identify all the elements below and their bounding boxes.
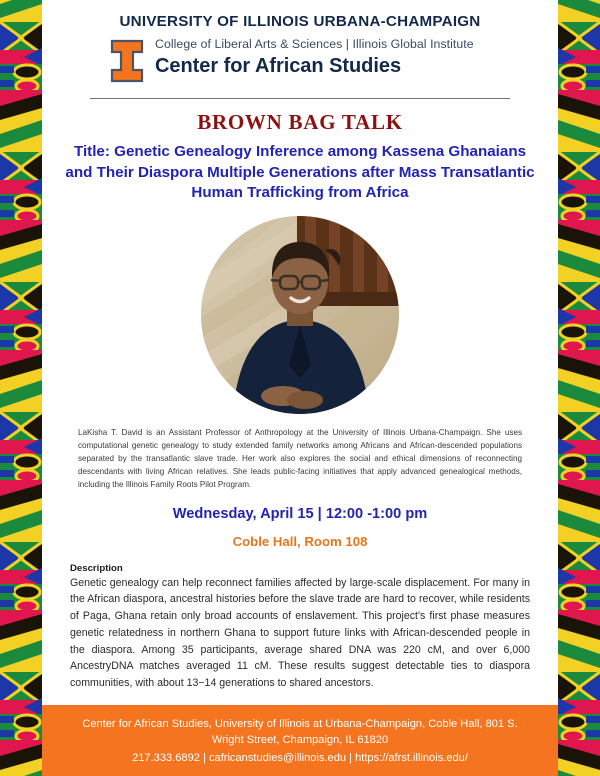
kente-pattern-tile	[558, 90, 600, 220]
speaker-bio: LaKisha T. David is an Assistant Profess…	[78, 426, 522, 492]
poster-flyer: UNIVERSITY OF ILLINOIS URBANA-CHAMPAIGN …	[0, 0, 600, 776]
kente-pattern-tile	[0, 740, 42, 776]
kente-pattern-tile	[0, 610, 42, 740]
description-label: Description	[70, 563, 530, 574]
kente-pattern-tile	[558, 0, 600, 90]
kente-pattern-tile	[558, 220, 600, 350]
kente-pattern-tile	[0, 480, 42, 610]
kente-pattern-tile	[0, 220, 42, 350]
brand-row: College of Liberal Arts & Sciences | Ill…	[60, 37, 540, 88]
kente-pattern-tile	[558, 350, 600, 480]
footer-contact: 217.333.6892 | cafricanstudies@illinois.…	[68, 750, 532, 766]
kente-pattern-tile	[0, 90, 42, 220]
description-block: Description Genetic genealogy can help r…	[70, 563, 530, 692]
event-datetime: Wednesday, April 15 | 12:00 -1:00 pm	[42, 506, 558, 522]
kente-pattern-tile	[558, 480, 600, 610]
kente-border-right	[558, 0, 600, 776]
unit-name: Center for African Studies	[155, 55, 474, 78]
portrait-container	[42, 216, 558, 414]
kente-pattern-tile	[558, 740, 600, 776]
content-column: UNIVERSITY OF ILLINOIS URBANA-CHAMPAIGN …	[42, 0, 558, 776]
kente-border-left	[0, 0, 42, 776]
kente-pattern-tile	[558, 610, 600, 740]
kente-pattern-tile	[0, 0, 42, 90]
speaker-portrait-photo	[201, 216, 399, 414]
description-body: Genetic genealogy can help reconnect fam…	[70, 575, 530, 692]
footer-address: Center for African Studies, University o…	[68, 716, 532, 749]
event-location: Coble Hall, Room 108	[42, 534, 558, 549]
kente-pattern-tile	[0, 350, 42, 480]
illinois-block-i-icon	[110, 39, 144, 88]
poster-footer: Center for African Studies, University o…	[42, 705, 558, 776]
university-name: UNIVERSITY OF ILLINOIS URBANA-CHAMPAIGN	[60, 13, 540, 30]
poster-header: UNIVERSITY OF ILLINOIS URBANA-CHAMPAIGN …	[42, 0, 558, 99]
college-line: College of Liberal Arts & Sciences | Ill…	[155, 37, 474, 51]
event-title: Title: Genetic Genealogy Inference among…	[64, 142, 536, 204]
header-divider	[90, 98, 510, 99]
event-series-label: BROWN BAG TALK	[42, 110, 558, 135]
